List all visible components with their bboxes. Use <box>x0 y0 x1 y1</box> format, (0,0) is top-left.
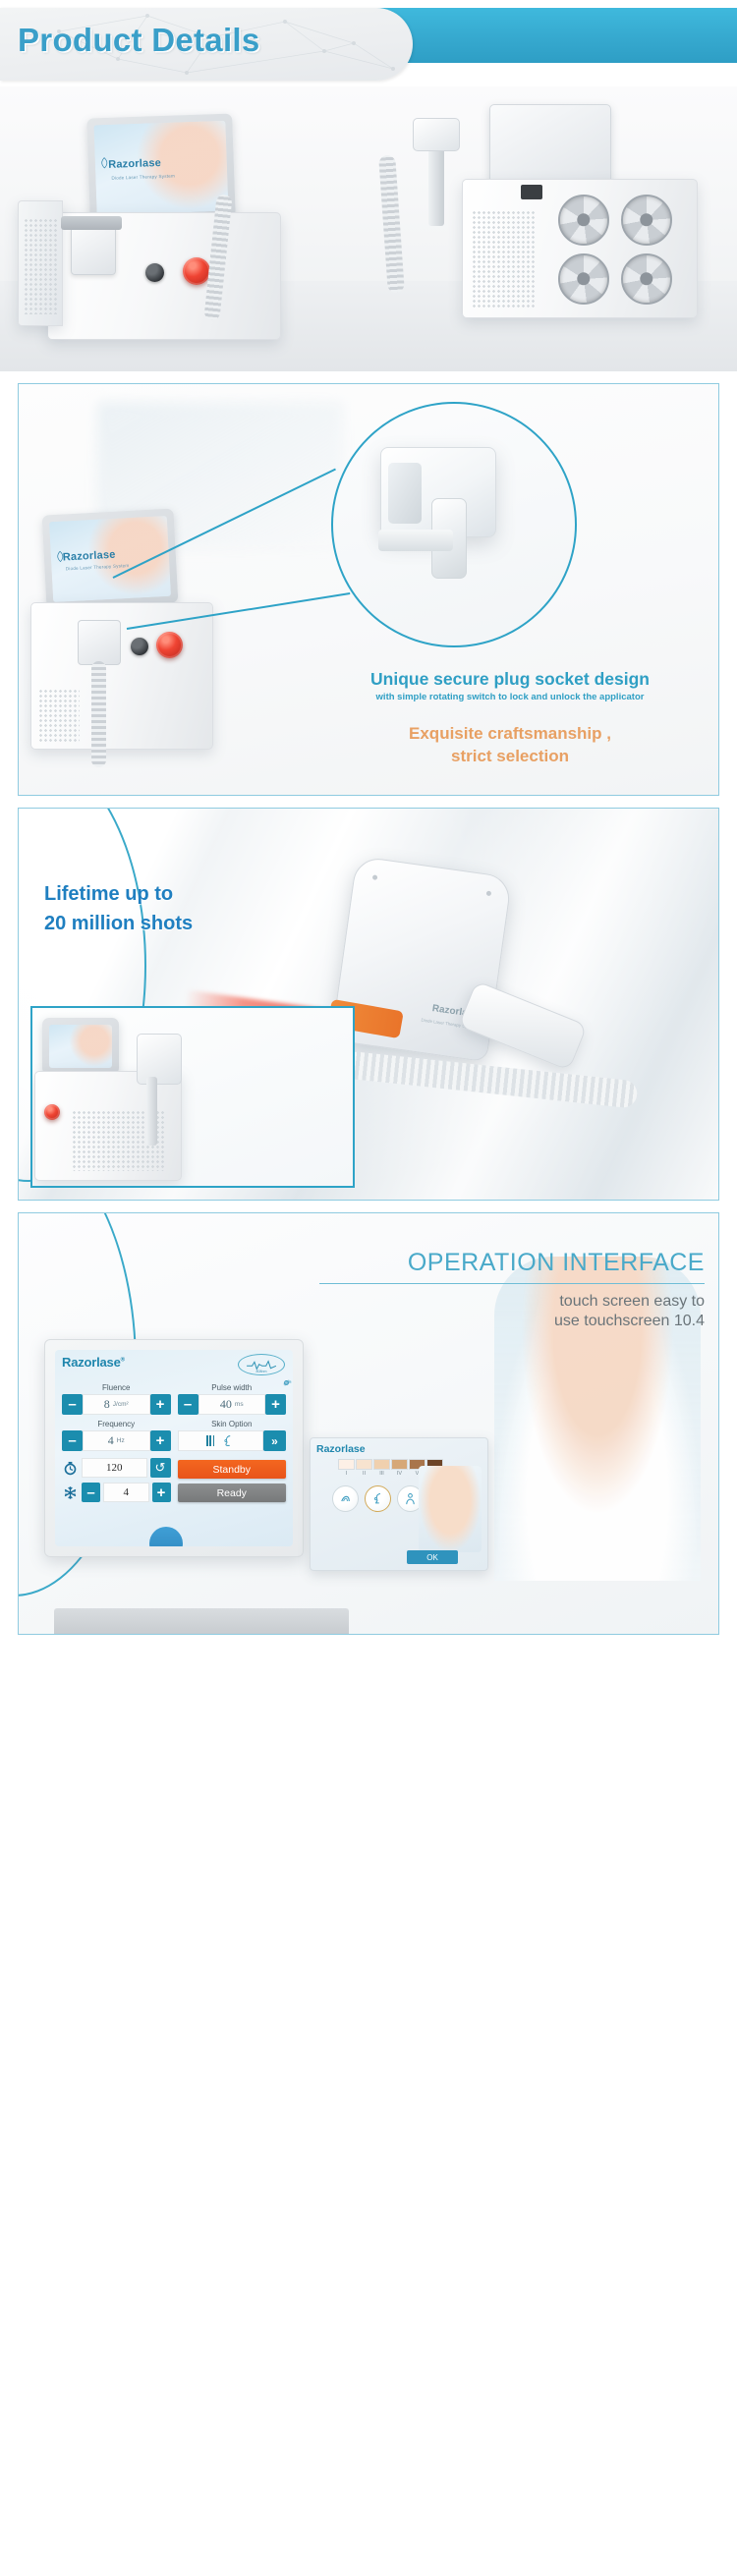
emergency-stop-button[interactable] <box>156 632 183 658</box>
fluence-unit: J/cm² <box>113 1401 129 1408</box>
pulse-width-unit: ms <box>235 1401 244 1408</box>
cooling-fan <box>558 253 609 305</box>
skin-option-label: Skin Option <box>178 1420 287 1428</box>
inset-emergency-stop[interactable] <box>44 1104 60 1120</box>
power-inlet <box>521 185 542 199</box>
side-vent-holes <box>24 218 57 314</box>
controls-left-column: Fluence – 8 J/cm² + Frequency – <box>62 1383 171 1502</box>
rear-hose <box>378 155 405 294</box>
inset-display <box>49 1025 112 1068</box>
lifetime-title: Lifetime up to 20 million shots <box>44 879 193 938</box>
skin-swatch[interactable]: I <box>338 1459 355 1477</box>
monitor-base <box>54 1608 349 1634</box>
face-profile-icon <box>221 1434 234 1447</box>
panel-socket-design: Razorlase Diode Laser Therapy System <box>18 383 719 796</box>
frequency-stepper: – 4 Hz + <box>62 1430 171 1451</box>
interface-title: OPERATION INTERFACE <box>282 1249 705 1277</box>
display-rear <box>489 104 611 185</box>
face-profile-icon[interactable] <box>365 1485 391 1512</box>
lifetime-title-line1: Lifetime up to <box>44 883 173 905</box>
applicator-hose <box>91 661 106 767</box>
panel-lifetime: Lifetime up to 20 million shots Razorlas… <box>18 808 719 1201</box>
brand-superscript: ® <box>121 1358 125 1364</box>
socket-handle <box>61 216 122 230</box>
pulse-width-plus-button[interactable]: + <box>265 1394 286 1415</box>
applicator-socket <box>71 226 116 275</box>
sound-wave-icon[interactable] <box>332 1485 359 1512</box>
skin-option-row: » <box>178 1430 287 1451</box>
socket-closeup-rim <box>378 530 453 551</box>
applicator-socket[interactable] <box>78 620 121 665</box>
cooling-value[interactable]: 4 <box>103 1483 149 1502</box>
touchscreen: Razorlase® 808nm Fluence <box>55 1350 293 1546</box>
side-vent-holes <box>38 689 80 744</box>
cooling-plus-button[interactable]: + <box>152 1483 171 1502</box>
display-brand: Razorlase <box>108 157 161 171</box>
timer-icon <box>62 1458 79 1478</box>
interface-subtitle-line1: touch screen easy to <box>559 1293 705 1310</box>
timer-reset-button[interactable]: ↺ <box>150 1458 171 1478</box>
applicator-holder <box>413 118 460 151</box>
screw-dot <box>486 891 492 897</box>
frequency-value-box[interactable]: 4 Hz <box>83 1430 150 1451</box>
machine-front-view: Razorlase Diode Laser Therapy System <box>18 110 312 346</box>
socket-subheading: with simple rotating switch to lock and … <box>304 692 716 702</box>
fluence-minus-button[interactable]: – <box>62 1394 83 1415</box>
page-title: Product Details <box>18 22 260 59</box>
fluence-stepper: – 8 J/cm² + <box>62 1394 171 1415</box>
heartbeat-icon <box>244 1360 279 1371</box>
emergency-stop-button[interactable] <box>183 257 210 285</box>
controls-right-column: Pulse width – 40 ms + Skin Option <box>178 1383 287 1502</box>
leaf-logo-icon <box>55 550 65 562</box>
skin-swatch[interactable]: II <box>356 1459 372 1477</box>
socket-highlight-line2: strict selection <box>451 747 569 765</box>
rear-vent-holes <box>472 210 537 308</box>
skin-type-bars-icon <box>206 1435 214 1446</box>
inset-applicator-mount <box>137 1034 182 1085</box>
display-tagline: Diode Laser Therapy System <box>111 173 175 180</box>
inset-display-frame <box>42 1018 119 1075</box>
interface-title-rule <box>319 1283 705 1284</box>
cooling-row: – 4 + <box>62 1483 171 1502</box>
cooling-fan <box>621 195 672 246</box>
inset-arm <box>146 1077 157 1146</box>
timer-value[interactable]: 120 <box>82 1458 147 1478</box>
machine-display-frame: Razorlase Diode Laser Therapy System <box>42 509 179 610</box>
machine-rear-view <box>373 104 708 350</box>
touchscreen-controls: Fluence – 8 J/cm² + Frequency – <box>62 1383 286 1502</box>
interface-heading-block: OPERATION INTERFACE touch screen easy to… <box>282 1249 705 1332</box>
interface-subtitle-line2: use touchscreen 10.4 <box>554 1313 705 1329</box>
ready-button[interactable]: Ready <box>178 1484 287 1502</box>
product-details-page: Product Details Razorlase Diode Laser Th… <box>0 0 737 1635</box>
status-button-group: Standby Ready <box>178 1460 287 1502</box>
tablet-brand: Razorlase <box>316 1443 482 1455</box>
display-tagline: Diode Laser Therapy System <box>66 563 130 571</box>
skin-option-next-button[interactable]: » <box>263 1430 286 1451</box>
skin-swatch-label: I <box>338 1471 355 1477</box>
fluence-label: Fluence <box>62 1383 171 1392</box>
display-brand: Razorlase <box>63 549 116 564</box>
skin-swatch-label: III <box>373 1471 390 1477</box>
frequency-plus-button[interactable]: + <box>150 1430 171 1451</box>
cooling-fan <box>558 195 609 246</box>
timer-row: 120 ↺ <box>62 1458 171 1478</box>
pulse-width-label: Pulse width <box>178 1383 287 1392</box>
frequency-label: Frequency <box>62 1420 171 1428</box>
ok-button[interactable]: OK <box>407 1550 458 1564</box>
cooling-minus-button[interactable]: – <box>82 1483 100 1502</box>
interface-subtitle: touch screen easy to use touchscreen 10.… <box>282 1292 705 1332</box>
screw-dot <box>372 874 378 880</box>
frequency-unit: Hz <box>117 1437 125 1444</box>
secondary-tablet-screen: Razorlase I II III IV V VI <box>310 1437 488 1571</box>
skin-swatch[interactable]: III <box>373 1459 390 1477</box>
hero-product-images: Razorlase Diode Laser Therapy System <box>0 86 737 371</box>
pulse-width-value-box[interactable]: 40 ms <box>198 1394 266 1415</box>
tablet-photo-area <box>419 1466 482 1552</box>
panel-operation-interface: OPERATION INTERFACE touch screen easy to… <box>18 1212 719 1635</box>
socket-highlight-line1: Exquisite craftsmanship , <box>409 724 611 743</box>
leaf-logo-icon <box>100 157 109 169</box>
touchscreen-bezel: Razorlase® 808nm Fluence <box>44 1339 304 1557</box>
decorative-half-disk <box>149 1527 183 1546</box>
socket-closeup-port <box>388 463 422 524</box>
skin-swatch-label: IV <box>391 1471 408 1477</box>
frequency-value: 4 <box>108 1433 114 1448</box>
page-header: Product Details <box>0 0 737 86</box>
skin-option-box[interactable] <box>178 1430 264 1451</box>
fluence-plus-button[interactable]: + <box>150 1394 171 1415</box>
touchscreen-brand-text: Razorlase <box>62 1355 121 1370</box>
inset-machine-photo <box>30 1006 355 1188</box>
socket-highlight: Exquisite craftsmanship , strict selecti… <box>304 723 716 768</box>
machine-display-frame: Razorlase Diode Laser Therapy System <box>86 113 236 222</box>
header-title-pill: Product Details <box>0 8 413 81</box>
standby-button[interactable]: Standby <box>178 1460 287 1479</box>
control-knob <box>145 263 164 282</box>
socket-closeup-circle <box>331 402 577 647</box>
socket-heading: Unique secure plug socket design <box>304 669 716 690</box>
pulse-width-stepper: – 40 ms + <box>178 1394 287 1415</box>
control-knob[interactable] <box>131 638 148 655</box>
snowflake-icon <box>62 1483 79 1502</box>
cooling-fan <box>621 253 672 305</box>
pulse-width-value: 40 <box>220 1397 232 1412</box>
fluence-value-box[interactable]: 8 J/cm² <box>83 1394 150 1415</box>
lifetime-title-line2: 20 million shots <box>44 913 193 934</box>
skin-swatch[interactable]: IV <box>391 1459 408 1477</box>
ecg-badge: 808nm <box>238 1354 285 1375</box>
pulse-width-minus-button[interactable]: – <box>178 1394 198 1415</box>
machine-display: Razorlase Diode Laser Therapy System <box>93 121 228 216</box>
fluence-value: 8 <box>104 1397 110 1412</box>
wavelength-label: 808nm <box>256 1370 267 1373</box>
frequency-minus-button[interactable]: – <box>62 1430 83 1451</box>
skin-swatch-label: II <box>356 1471 372 1477</box>
